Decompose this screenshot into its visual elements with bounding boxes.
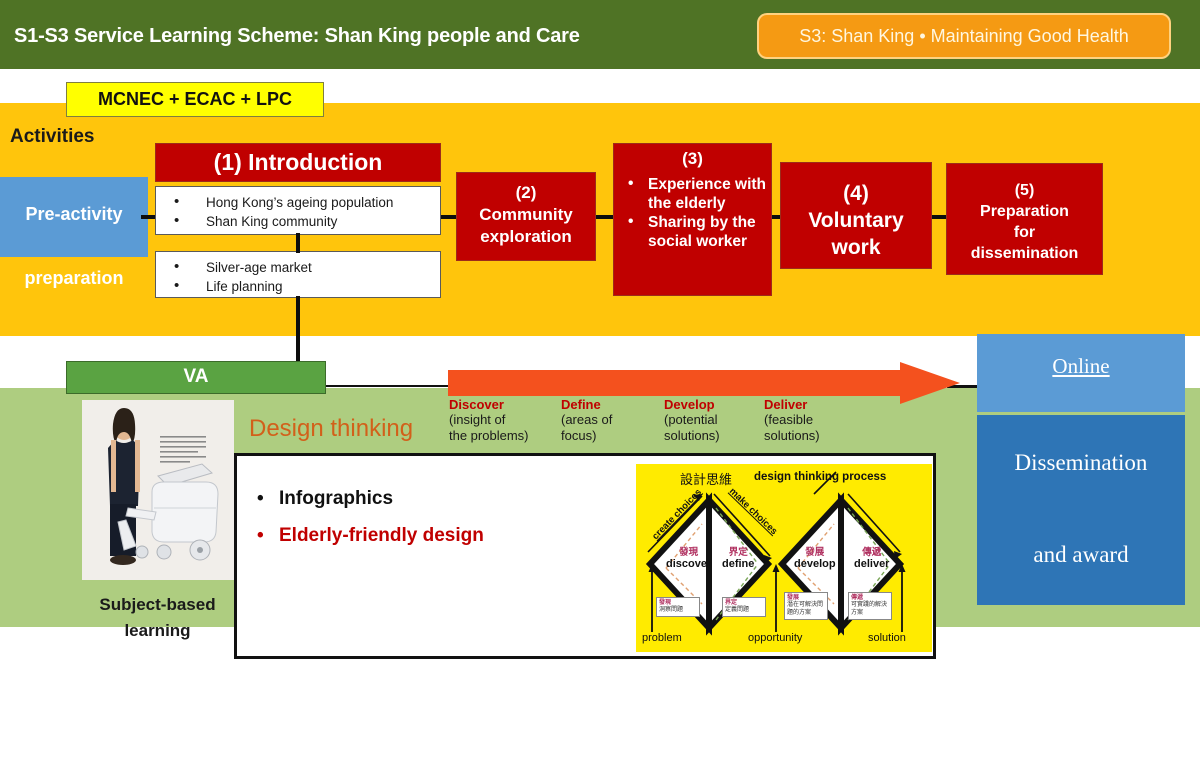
phase-discover-detail-1: (insight of bbox=[449, 412, 528, 428]
page-title: S1-S3 Service Learning Scheme: Shan King… bbox=[14, 25, 580, 48]
activity-step-5-label: (5) Preparation for dissemination bbox=[947, 164, 1102, 264]
pre-activity-line2: preparation bbox=[0, 253, 148, 291]
stage-discover-cn: 發現 bbox=[666, 544, 711, 558]
list-item: Experience with the elderly bbox=[614, 175, 771, 213]
pre-activity-line1: Pre-activity bbox=[0, 189, 148, 227]
axis-opportunity: opportunity bbox=[748, 632, 802, 644]
phase-discover: Discover (insight of the problems) bbox=[449, 397, 528, 444]
mcnec-tag-label: MCNEC + ECAC + LPC bbox=[67, 83, 323, 115]
note-define-body: 定義問題 bbox=[725, 607, 749, 613]
activity-step-2-line3: exploration bbox=[480, 227, 572, 246]
phase-develop: Develop (potential solutions) bbox=[664, 397, 720, 444]
activity-step-5-number: (5) bbox=[1015, 182, 1035, 199]
phase-define-name: Define bbox=[561, 397, 612, 412]
status-badge-label: S3: Shan King • Maintaining Good Health bbox=[759, 15, 1169, 57]
pre-activity-label: Pre-activity preparation bbox=[0, 177, 148, 291]
note-define-title: 界定 bbox=[725, 600, 763, 608]
va-subject-box[interactable]: VA bbox=[66, 361, 326, 394]
activity-step-5-line2: Preparation bbox=[980, 203, 1069, 220]
list-item: Silver-age market bbox=[156, 258, 440, 277]
pre-activity-box: Pre-activity preparation bbox=[0, 177, 148, 257]
stage-discover: 發現 discover bbox=[666, 544, 711, 570]
connector-va-to-arrow bbox=[326, 385, 452, 387]
list-item: Shan King community bbox=[156, 212, 440, 231]
phase-develop-detail-2: solutions) bbox=[664, 428, 720, 444]
ceremony-line2: and award bbox=[977, 521, 1185, 574]
note-define: 界定 定義問題 bbox=[722, 597, 766, 617]
activity-step-1-title-box[interactable]: (1) Introduction bbox=[155, 143, 441, 182]
list-item: Sharing by the social worker bbox=[614, 213, 771, 251]
note-discover-title: 發現 bbox=[659, 600, 697, 608]
activity-step-1-subbox-2: Silver-age market Life planning bbox=[155, 251, 441, 298]
phase-deliver-detail-1: (feasible bbox=[764, 412, 820, 428]
subject-caption-line2: learning bbox=[124, 621, 190, 640]
note-develop: 發展 潛在可解決問題的方案 bbox=[784, 592, 828, 620]
activities-section-label: Activities bbox=[10, 126, 94, 148]
photo-illustration bbox=[82, 400, 234, 580]
phase-deliver-detail-2: solutions) bbox=[764, 428, 820, 444]
note-deliver-body: 可實踐的解決方案 bbox=[851, 602, 887, 616]
mcnec-tag-box: MCNEC + ECAC + LPC bbox=[66, 82, 324, 117]
connector-subbox1-to-subbox2 bbox=[296, 233, 300, 253]
activity-step-1-sub-list-2: Silver-age market Life planning bbox=[156, 252, 440, 296]
activity-step-2-line2: Community bbox=[479, 205, 573, 224]
axis-solution: solution bbox=[868, 632, 906, 644]
axis-problem: problem bbox=[642, 632, 682, 644]
activity-step-1-title: (1) Introduction bbox=[156, 144, 440, 181]
activity-step-5-line4: dissemination bbox=[971, 245, 1079, 262]
stage-deliver: 傳遞 deliver bbox=[854, 544, 889, 570]
phase-define-detail-2: focus) bbox=[561, 428, 612, 444]
activity-step-4-line2: Voluntary bbox=[808, 209, 903, 232]
stage-define: 界定 define bbox=[722, 544, 754, 570]
award-ceremony-box[interactable]: Dissemination and award presentation cer… bbox=[977, 415, 1185, 605]
phase-develop-name: Develop bbox=[664, 397, 720, 412]
note-discover: 發現 洞察問題 bbox=[656, 597, 700, 617]
activity-step-2-number: (2) bbox=[516, 183, 537, 202]
note-develop-title: 發展 bbox=[787, 595, 825, 603]
phase-discover-name: Discover bbox=[449, 397, 528, 412]
activity-step-5-box[interactable]: (5) Preparation for dissemination bbox=[946, 163, 1103, 275]
stage-deliver-en: deliver bbox=[854, 558, 889, 570]
list-item: Hong Kong’s ageing population bbox=[156, 193, 440, 212]
note-deliver-title: 傳遞 bbox=[851, 595, 889, 603]
stage-define-en: define bbox=[722, 558, 754, 570]
phase-define-detail-1: (areas of bbox=[561, 412, 612, 428]
design-thinking-process-diagram: 設計思維 design thinking process bbox=[636, 464, 932, 652]
list-item: Life planning bbox=[156, 277, 440, 296]
activity-step-2-label: (2) Community exploration bbox=[457, 173, 595, 248]
connector-step1-to-va bbox=[296, 296, 300, 364]
activity-step-5-line3: for bbox=[1014, 224, 1035, 241]
award-ceremony-label: Dissemination and award presentation cer… bbox=[977, 415, 1185, 758]
note-discover-body: 洞察問題 bbox=[659, 607, 683, 613]
online-dissemination-box[interactable]: Online dissemination bbox=[977, 334, 1185, 412]
activity-step-4-number: (4) bbox=[843, 182, 869, 205]
activity-step-4-line3: work bbox=[831, 236, 880, 259]
online-line1: Online bbox=[977, 343, 1185, 380]
activity-step-4-box[interactable]: (4) Voluntary work bbox=[780, 162, 932, 269]
phase-develop-detail-1: (potential bbox=[664, 412, 720, 428]
activity-step-1-sub-list-1: Hong Kong’s ageing population Shan King … bbox=[156, 187, 440, 231]
design-thinking-label: Design thinking bbox=[249, 415, 413, 443]
phase-define: Define (areas of focus) bbox=[561, 397, 612, 444]
activity-step-4-label: (4) Voluntary work bbox=[781, 163, 931, 261]
activity-step-3-bullets: Experience with the elderly Sharing by t… bbox=[614, 175, 771, 251]
phase-deliver-name: Deliver bbox=[764, 397, 820, 412]
activity-step-2-box[interactable]: (2) Community exploration bbox=[456, 172, 596, 261]
stage-discover-en: discover bbox=[666, 558, 711, 570]
subject-caption-line1: Subject-based bbox=[99, 595, 215, 614]
note-deliver: 傳遞 可實踐的解決方案 bbox=[848, 592, 892, 620]
note-develop-body: 潛在可解決問題的方案 bbox=[787, 602, 823, 616]
phase-deliver: Deliver (feasible solutions) bbox=[764, 397, 820, 444]
phase-discover-detail-2: the problems) bbox=[449, 428, 528, 444]
slide-canvas: S1-S3 Service Learning Scheme: Shan King… bbox=[0, 0, 1200, 675]
ceremony-line4: ceremony bbox=[977, 705, 1185, 758]
va-label: VA bbox=[67, 362, 325, 392]
ceremony-line3: presentation bbox=[977, 613, 1185, 666]
activity-step-3-box[interactable]: (3) Experience with the elderly Sharing … bbox=[613, 143, 772, 296]
elderly-care-product-photo bbox=[82, 400, 234, 580]
status-badge: S3: Shan King • Maintaining Good Health bbox=[757, 13, 1171, 59]
stage-develop-en: develop bbox=[794, 558, 836, 570]
ceremony-line1: Dissemination bbox=[977, 429, 1185, 482]
stage-develop-cn: 發展 bbox=[794, 544, 836, 558]
stage-define-cn: 界定 bbox=[722, 544, 754, 558]
activity-step-3-number: (3) bbox=[614, 144, 771, 169]
stage-develop: 發展 develop bbox=[794, 544, 836, 570]
activity-step-1-subbox-1: Hong Kong’s ageing population Shan King … bbox=[155, 186, 441, 235]
stage-deliver-cn: 傳遞 bbox=[854, 544, 889, 558]
